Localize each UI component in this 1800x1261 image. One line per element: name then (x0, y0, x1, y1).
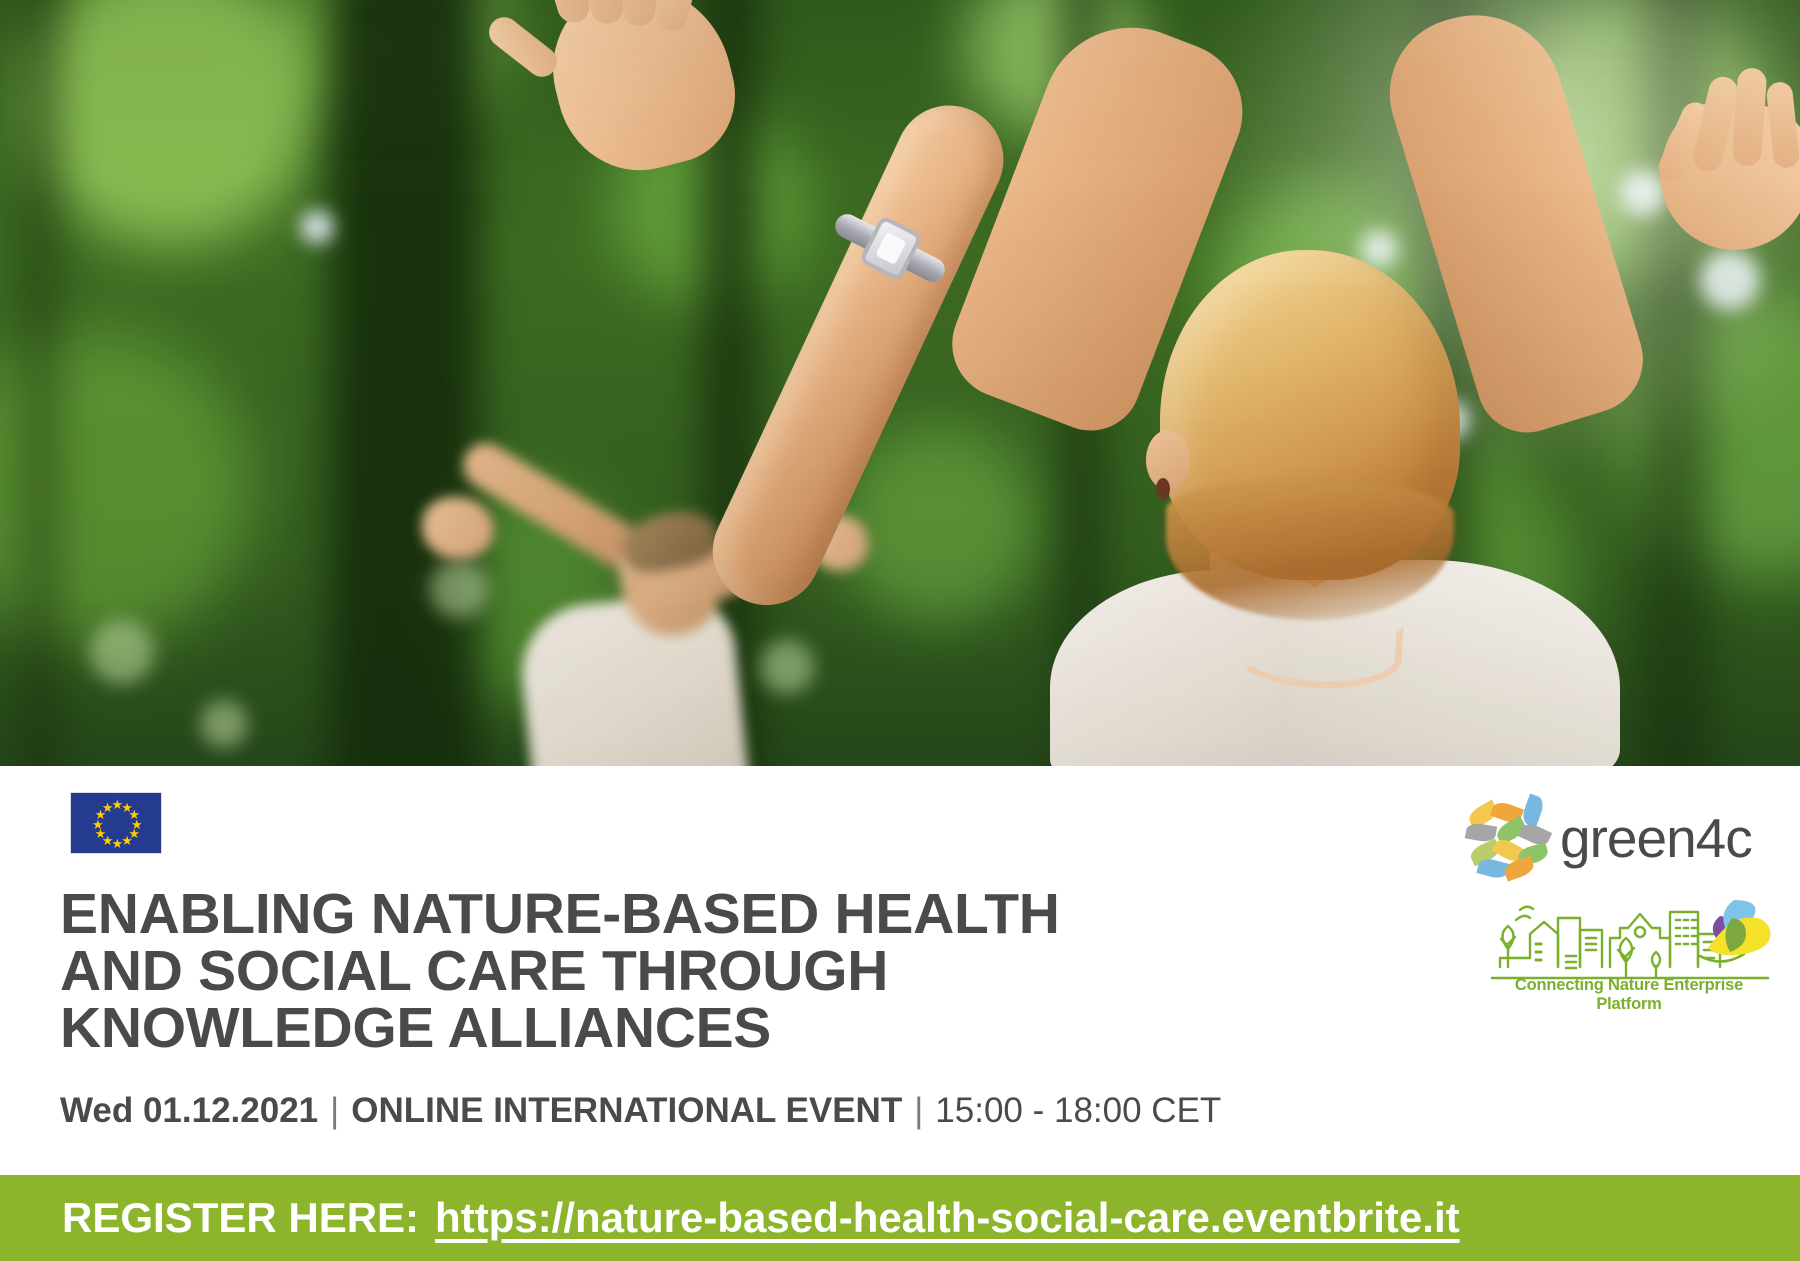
event-date: Wed 01.12.2021 (60, 1091, 318, 1130)
photo-vignette (0, 0, 1800, 766)
event-time: 15:00 - 18:00 CET (935, 1091, 1221, 1130)
event-meta: Wed 01.12.2021|ONLINE INTERNATIONAL EVEN… (60, 1091, 1221, 1131)
hero-forest-photo (0, 0, 1800, 766)
register-bar: REGISTER HERE: https://nature-based-heal… (0, 1175, 1800, 1261)
eu-star: ★ (112, 838, 123, 849)
event-type: ONLINE INTERNATIONAL EVENT (351, 1091, 902, 1130)
title-line-1: ENABLING NATURE-BASED HEALTH (60, 886, 1120, 943)
connecting-nature-logo[interactable]: Connecting Nature Enterprise Platform (1484, 894, 1774, 1014)
connecting-nature-caption: Connecting Nature Enterprise Platform (1484, 976, 1774, 1014)
meta-separator: | (914, 1091, 923, 1130)
green4c-logo[interactable]: green4c (1468, 802, 1768, 874)
green4c-leaf-cluster-icon (1468, 802, 1542, 874)
register-url-link[interactable]: https://nature-based-health-social-care.… (435, 1194, 1460, 1242)
meta-separator: | (330, 1091, 339, 1130)
event-banner: ★★★★★★★★★★★★ ENABLING NATURE-BASED HEALT… (0, 0, 1800, 1261)
green4c-wordmark: green4c (1560, 811, 1752, 866)
eu-star: ★ (102, 802, 113, 813)
european-union-flag-icon: ★★★★★★★★★★★★ (70, 792, 162, 854)
title-line-3: KNOWLEDGE ALLIANCES (60, 1000, 1120, 1057)
title-line-2: AND SOCIAL CARE THROUGH (60, 943, 1120, 1000)
register-label: REGISTER HERE: (62, 1194, 419, 1242)
page-title: ENABLING NATURE-BASED HEALTH AND SOCIAL … (60, 886, 1120, 1057)
content-area: ★★★★★★★★★★★★ ENABLING NATURE-BASED HEALT… (0, 766, 1800, 1175)
